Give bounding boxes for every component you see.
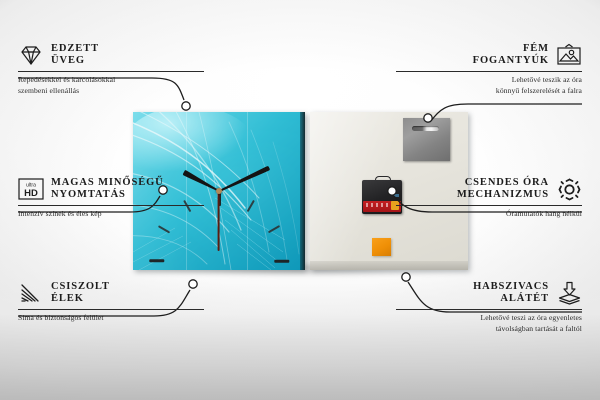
battery-stripes <box>366 203 390 207</box>
feature-title: HABSZIVACS ALÁTÉT <box>473 281 549 306</box>
feature-header: EDZETT ÜVEG <box>18 42 204 71</box>
hour-marker-9 <box>149 260 164 263</box>
svg-text:HD: HD <box>24 188 38 199</box>
feature-title-line2: MECHANIZMUS <box>457 189 549 200</box>
second-hand <box>218 191 220 251</box>
feature-header: HABSZIVACS ALÁTÉT <box>396 280 582 309</box>
diamond-icon <box>18 42 44 68</box>
feature-title-line2: NYOMTATÁS <box>51 189 126 200</box>
feature-title-line1: HABSZIVACS <box>473 281 549 292</box>
feature-header: CSISZOLT ÉLEK <box>18 280 204 309</box>
hands-center-cap <box>216 188 222 194</box>
feature-foam-pad: HABSZIVACS ALÁTÉT Lehetővé teszi az óra … <box>396 280 582 335</box>
feature-title: MAGAS MINŐSÉGŰ NYOMTATÁS <box>51 177 164 202</box>
feature-header: ultra HD MAGAS MINŐSÉGŰ NYOMTATÁS <box>18 176 204 205</box>
feature-desc-line1: Óramutatók hang nélkül <box>506 209 582 218</box>
feature-tempered-glass: EDZETT ÜVEG Repedésekkel és karcolásokka… <box>18 42 204 97</box>
feature-metal-handles: FÉM FOGANTYÚK Lehetővé teszik az óra kön… <box>396 42 582 97</box>
feature-title-line2: ALÁTÉT <box>500 293 549 304</box>
feature-title-line2: ÉLEK <box>51 293 84 304</box>
metal-hanger <box>403 118 450 161</box>
feature-title-line1: MAGAS MINŐSÉGŰ <box>51 177 164 188</box>
feature-desc-line1: Repedésekkel és karcolásokkal <box>18 75 115 84</box>
feature-description: Sima és biztonságos felület <box>18 310 204 324</box>
feature-header: CSENDES ÓRA MECHANIZMUS <box>396 176 582 205</box>
foam-pad <box>372 238 391 256</box>
hanger-keyhole-slot <box>412 126 439 131</box>
feature-desc-line1: Lehetővé teszik az óra <box>512 75 582 84</box>
picture-hanger-icon <box>556 42 582 68</box>
feature-desc-line1: Intenzív színek és éles kép <box>18 209 102 218</box>
feature-title-line2: ÜVEG <box>51 55 85 66</box>
feature-desc-line2: szembeni ellenállás <box>18 86 79 95</box>
feature-title-line1: CSISZOLT <box>51 281 110 292</box>
product-infographic: EDZETT ÜVEG Repedésekkel és karcolásokka… <box>0 0 600 400</box>
feature-description: Intenzív színek és éles kép <box>18 206 204 220</box>
polished-edges-icon <box>18 280 44 306</box>
clock-face-edge <box>300 112 305 270</box>
feature-title-line1: FÉM <box>523 43 549 54</box>
feature-title-line2: FOGANTYÚK <box>473 55 549 66</box>
feature-description: Óramutatók hang nélkül <box>396 206 582 220</box>
feature-desc-line2: távolságban tartását a faltól <box>496 324 582 333</box>
gear-icon <box>556 176 582 202</box>
feature-desc-line1: Lehetővé teszi az óra egyenletes <box>481 313 582 322</box>
feature-description: Lehetővé teszi az óra egyenletes távolsá… <box>396 310 582 335</box>
feature-desc-line1: Sima és biztonságos felület <box>18 313 104 322</box>
feature-title: EDZETT ÜVEG <box>51 43 99 68</box>
feature-polished-edges: CSISZOLT ÉLEK Sima és biztonságos felüle… <box>18 280 204 324</box>
feature-description: Lehetővé teszik az óra könnyű felszerelé… <box>396 72 582 97</box>
back-panel-base <box>310 261 468 270</box>
feature-title: CSISZOLT ÉLEK <box>51 281 110 306</box>
hour-marker-3 <box>274 260 289 263</box>
press-pad-icon <box>556 280 582 306</box>
feature-title-line1: EDZETT <box>51 43 99 54</box>
feature-header: FÉM FOGANTYÚK <box>396 42 582 71</box>
glass-seam-right <box>247 112 248 270</box>
feature-title: CSENDES ÓRA MECHANIZMUS <box>457 177 549 202</box>
feature-title-line1: CSENDES ÓRA <box>465 177 549 188</box>
ultra-hd-icon: ultra HD <box>18 176 44 202</box>
feature-description: Repedésekkel és karcolásokkal szembeni e… <box>18 72 204 97</box>
connector-dot-tempered-glass <box>182 102 190 110</box>
feature-title: FÉM FOGANTYÚK <box>473 43 549 68</box>
feature-silent-mechanism: CSENDES ÓRA MECHANIZMUS Óramutató <box>396 176 582 220</box>
feature-high-quality-print: ultra HD MAGAS MINŐSÉGŰ NYOMTATÁS Intenz… <box>18 176 204 220</box>
feature-desc-line2: könnyű felszerelését a falra <box>496 86 582 95</box>
